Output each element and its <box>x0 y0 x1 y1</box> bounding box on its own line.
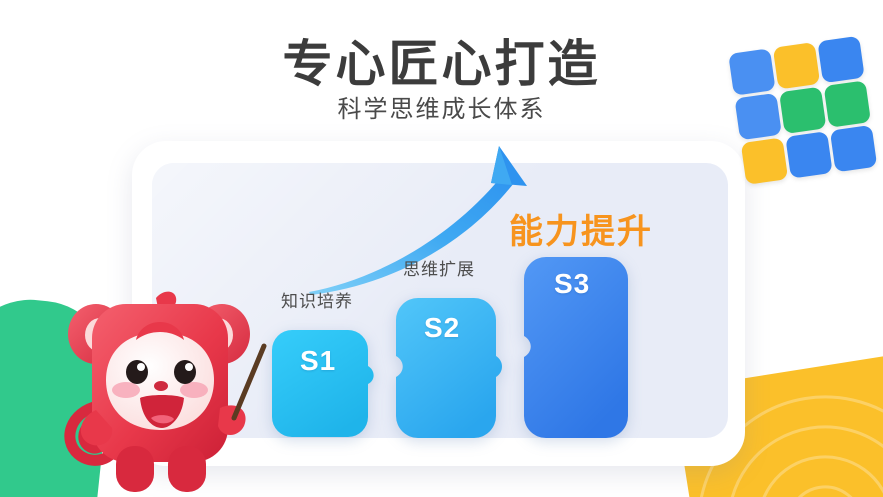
promo-banner: 专心匠心打造 科学思维成长体系 知识培养 <box>0 0 883 497</box>
step-code-s2: S2 <box>424 312 460 344</box>
monkey-mascot <box>52 288 267 497</box>
step-label-s1: 知识培养 <box>281 287 353 312</box>
capability-callout: 能力提升 <box>509 204 653 253</box>
step-code-s3: S3 <box>554 268 590 300</box>
step-code-s1: S1 <box>300 345 336 377</box>
step-label-s2: 思维扩展 <box>403 255 475 280</box>
